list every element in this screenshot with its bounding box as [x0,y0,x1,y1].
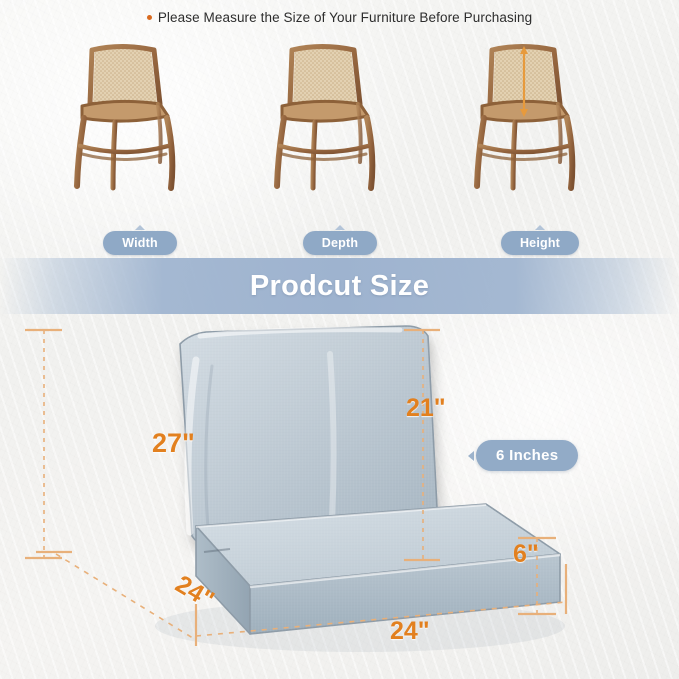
rattan-chair-icon [68,42,213,202]
chair-item-width: Width [40,42,240,257]
product-size-banner: Prodcut Size [0,258,679,314]
thickness-badge: 6 Inches [468,440,578,471]
product-diagram: 27" 21" 6" 24" 24" [0,314,679,679]
thickness-badge-label: 6 Inches [476,440,578,471]
orange-dot-icon [147,15,152,20]
dimension-back-height: 27" [152,428,195,459]
chair-label-badge-depth: Depth [240,225,440,255]
chair-label-badge-width: Width [40,225,240,255]
dimension-seat-width: 24" [390,617,430,646]
dimension-back-panel: 21" [406,394,446,423]
chair-label-depth: Depth [303,231,377,255]
header-note: Please Measure the Size of Your Furnitur… [0,10,679,25]
caret-up-icon [135,225,145,230]
header-note-text: Please Measure the Size of Your Furnitur… [158,10,532,25]
chair-measure-row: Width [0,42,679,257]
chair-item-depth: Depth [240,42,440,257]
cushion-set-icon [0,314,679,679]
dimension-seat-height: 6" [513,540,539,569]
caret-up-icon [535,225,545,230]
chair-label-badge-height: Height [440,225,640,255]
infographic-page: Please Measure the Size of Your Furnitur… [0,0,679,679]
chair-label-height: Height [501,231,579,255]
banner-title: Prodcut Size [250,270,429,303]
rattan-chair-icon [468,42,613,202]
rattan-chair-icon [268,42,413,202]
left-caret-icon [468,451,474,461]
caret-up-icon [335,225,345,230]
chair-item-height: Height [440,42,640,257]
chair-label-width: Width [103,231,177,255]
